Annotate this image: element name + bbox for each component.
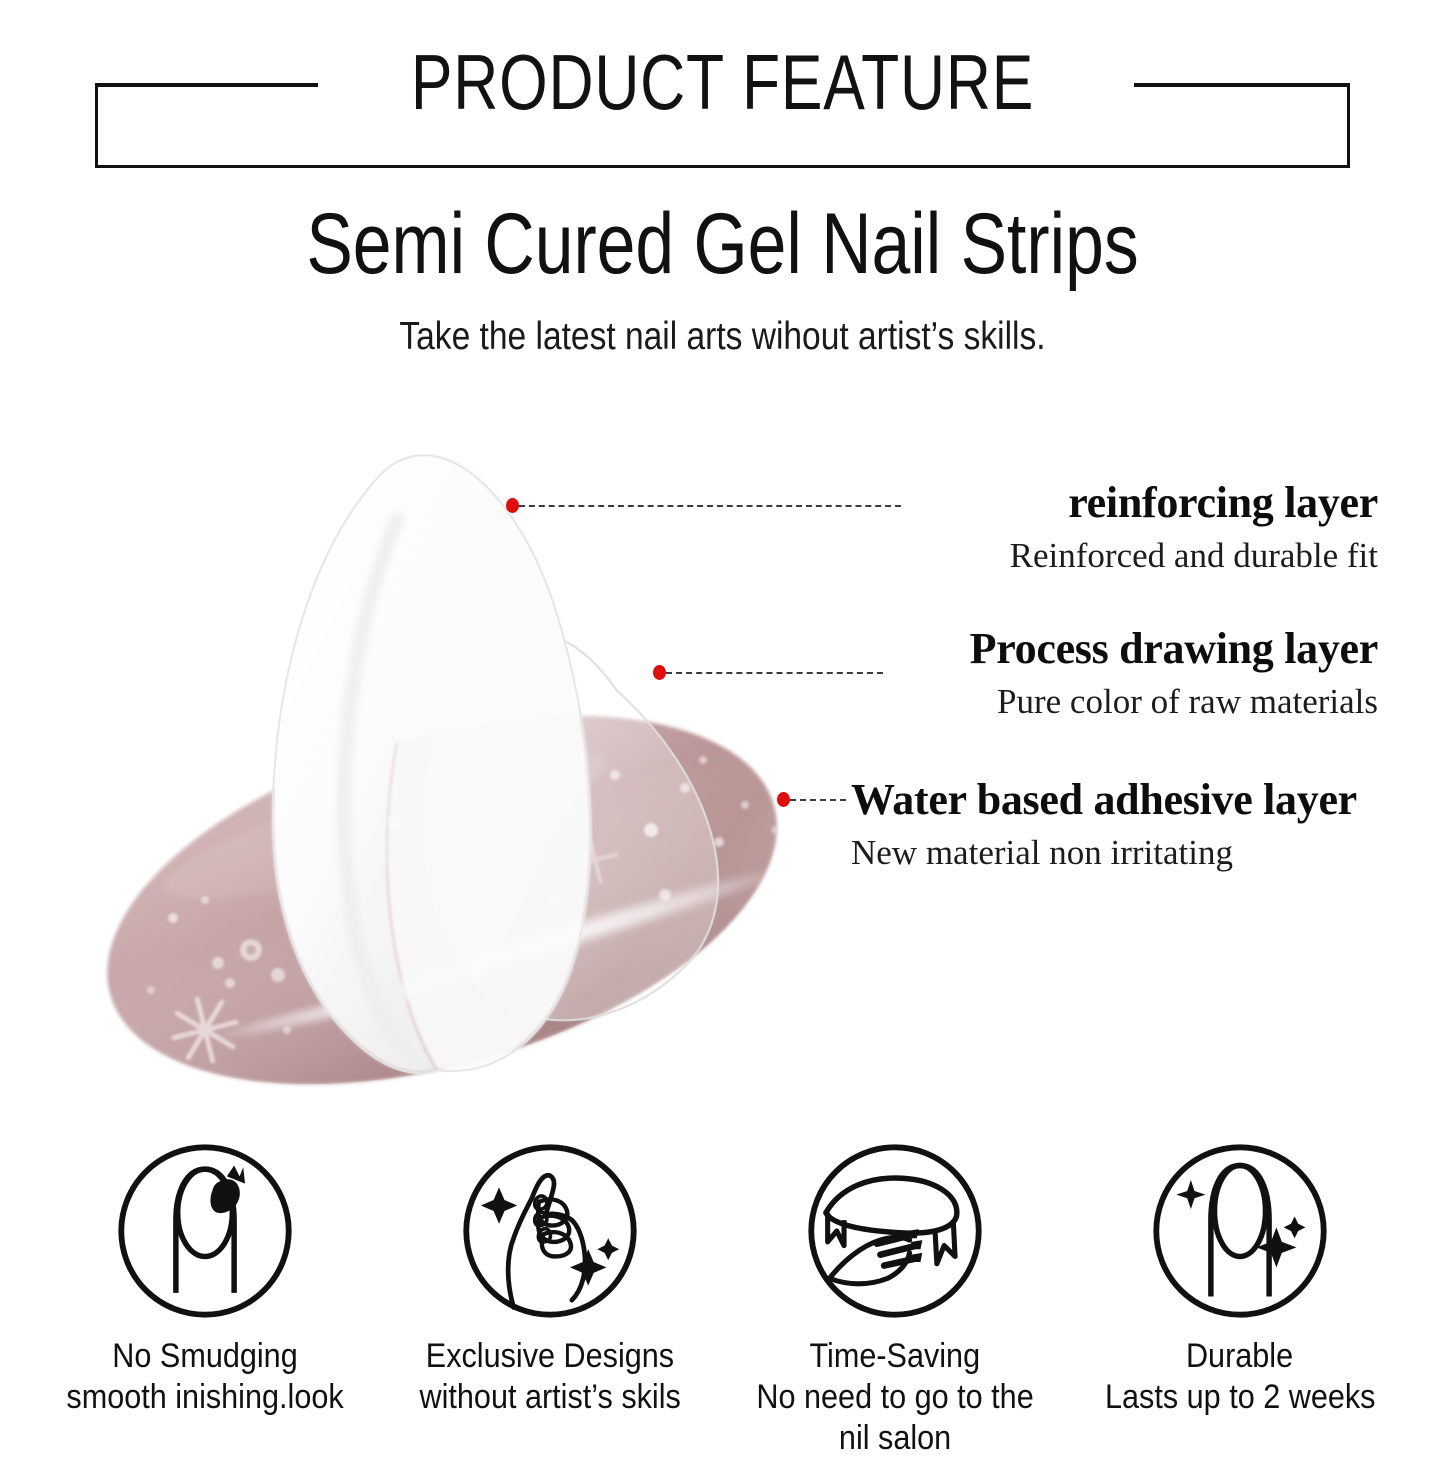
page-subtitle: Take the latest nail arts wihout artist’…: [101, 313, 1344, 361]
callout-leader-reinforcing-layer: [519, 505, 901, 507]
callout-process-drawing-layer: Process drawing layer Pure color of raw …: [970, 624, 1378, 724]
callout-title: reinforcing layer: [1010, 478, 1378, 528]
callout-title: Process drawing layer: [970, 624, 1378, 674]
header-section: PRODUCT FEATURE: [0, 0, 1445, 185]
feature-description: without artist’s skils: [419, 1377, 680, 1418]
feature-label: Time-Saving: [810, 1336, 981, 1377]
feature-description: Lasts up to 2 weeks: [1105, 1377, 1375, 1418]
shiny-nail-sparkle-icon: [1149, 1140, 1331, 1322]
feature-item-exclusive-designs: Exclusive Designs without artist’s skils: [385, 1140, 715, 1445]
callout-leader-water-based-adhesive-layer: [790, 799, 846, 801]
callout-subtitle: New material non irritating: [851, 831, 1357, 875]
callout-marker-reinforcing-layer: [506, 498, 519, 513]
feature-benefits-row: No Smudging smooth inishing.look: [0, 1140, 1445, 1445]
feature-label: No Smudging: [112, 1336, 297, 1377]
reinforcing-top-layer: [273, 454, 591, 1073]
uv-nail-lamp-icon: [804, 1140, 986, 1322]
feature-item-no-smudging: No Smudging smooth inishing.look: [40, 1140, 370, 1445]
feature-description: smooth inishing.look: [66, 1377, 343, 1418]
product-feature-infographic: PRODUCT FEATURE Semi Cured Gel Nail Stri…: [0, 0, 1445, 1445]
callout-subtitle: Pure color of raw materials: [970, 680, 1378, 724]
feature-item-durable: Durable Lasts up to 2 weeks: [1075, 1140, 1405, 1445]
feature-item-time-saving: Time-Saving No need to go to the nil sal…: [730, 1140, 1060, 1445]
callout-marker-process-drawing-layer: [653, 665, 666, 680]
feature-label: Exclusive Designs: [426, 1336, 674, 1377]
page-eyebrow-title: PRODUCT FEATURE: [145, 42, 1301, 122]
feature-label: Durable: [1186, 1336, 1293, 1377]
callout-reinforcing-layer: reinforcing layer Reinforced and durable…: [1010, 478, 1378, 578]
callout-leader-process-drawing-layer: [666, 672, 883, 674]
feature-description: No need to go to the nil salon: [756, 1377, 1033, 1459]
callout-subtitle: Reinforced and durable fit: [1010, 534, 1378, 578]
nail-brush-icon: [114, 1140, 296, 1322]
callout-marker-water-based-adhesive-layer: [777, 792, 790, 807]
page-title: Semi Cured Gel Nail Strips: [137, 196, 1307, 292]
callout-water-based-adhesive-layer: Water based adhesive layer New material …: [851, 775, 1357, 875]
manicured-hand-sparkle-icon: [459, 1140, 641, 1322]
product-layers-illustration: [55, 430, 845, 1110]
callout-title: Water based adhesive layer: [851, 775, 1357, 825]
